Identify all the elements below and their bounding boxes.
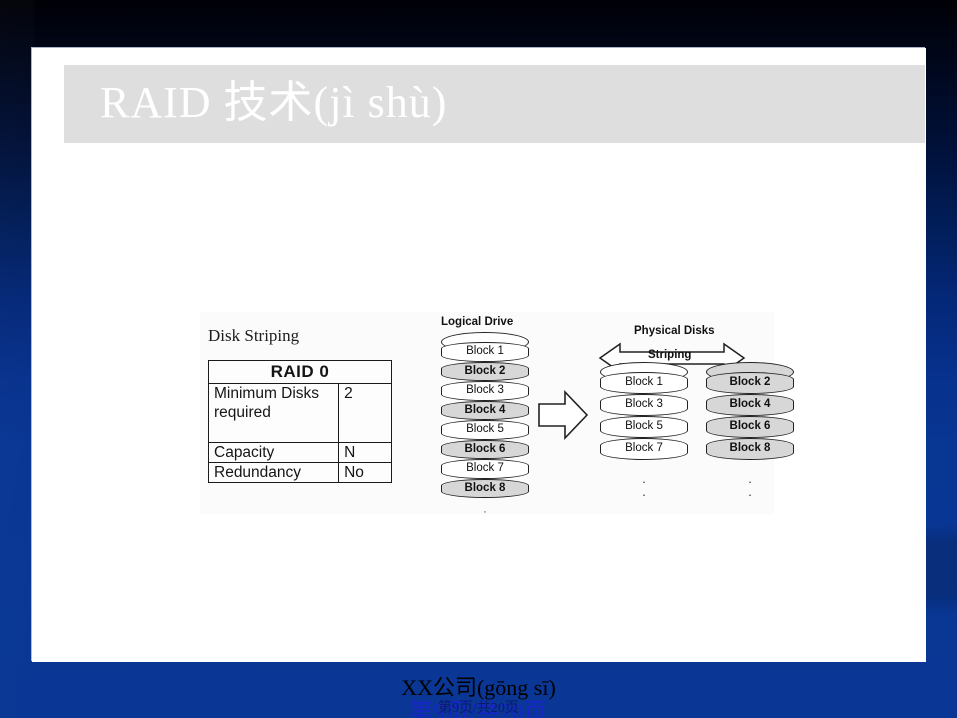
disk-block-label: Block 3 bbox=[442, 382, 528, 399]
raid0-spec-table: RAID 0 Minimum Disks required 2 Capacity… bbox=[208, 360, 392, 483]
disk-block-label: Block 6 bbox=[707, 417, 793, 436]
disk-block: Block 6 bbox=[706, 416, 794, 438]
slide-content-card: RAID 技术(jì shù) Disk Striping RAID 0 Min… bbox=[32, 48, 926, 662]
disk-block-label: Block 3 bbox=[601, 395, 687, 414]
physical-disk-left-continuation: ·· bbox=[600, 475, 688, 501]
row-label-capacity: Capacity bbox=[209, 443, 339, 463]
disk-block: Block 1 bbox=[600, 372, 688, 394]
diagram-caption: Disk Striping bbox=[208, 326, 299, 346]
disk-block: Block 7 bbox=[441, 459, 529, 479]
transition-arrow-icon bbox=[537, 388, 589, 442]
disk-block-label: Block 1 bbox=[601, 373, 687, 392]
disk-block: Block 4 bbox=[441, 401, 529, 421]
disk-block-label: Block 1 bbox=[442, 343, 528, 360]
physical-disks-title: Physical Disks bbox=[634, 325, 715, 337]
disk-block-label: Block 5 bbox=[601, 417, 687, 436]
disk-block-label: Block 8 bbox=[707, 439, 793, 458]
row-label-min-disks: Minimum Disks required bbox=[209, 384, 339, 443]
physical-disk-left: Block 1Block 3Block 5Block 7 bbox=[600, 362, 688, 472]
row-value-min-disks: 2 bbox=[339, 384, 392, 443]
row-value-redundancy: No bbox=[339, 463, 392, 483]
logical-drive-cylinder: Block 1Block 2Block 3Block 4Block 5Block… bbox=[441, 332, 529, 510]
disk-block-label: Block 4 bbox=[707, 395, 793, 414]
disk-block: Block 8 bbox=[441, 479, 529, 499]
disk-block-label: Block 5 bbox=[442, 421, 528, 438]
disk-block: Block 5 bbox=[441, 420, 529, 440]
physical-disk-right-continuation: ·· bbox=[706, 475, 794, 501]
disk-block-label: Block 7 bbox=[442, 460, 528, 477]
background-sheen-left bbox=[0, 0, 34, 718]
disk-block: Block 7 bbox=[600, 438, 688, 460]
row-label-redundancy: Redundancy bbox=[209, 463, 339, 483]
disk-block: Block 1 bbox=[441, 342, 529, 362]
disk-block: Block 6 bbox=[441, 440, 529, 460]
disk-block: Block 2 bbox=[441, 362, 529, 382]
disk-block: Block 8 bbox=[706, 438, 794, 460]
disk-block: Block 3 bbox=[441, 381, 529, 401]
disk-block-label: Block 4 bbox=[442, 402, 528, 419]
disk-block: Block 2 bbox=[706, 372, 794, 394]
striping-label: Striping bbox=[648, 349, 691, 361]
disk-block: Block 4 bbox=[706, 394, 794, 416]
page-counter-overlay: 第9页/共20页 bbox=[0, 697, 957, 717]
table-row: Minimum Disks required 2 bbox=[209, 384, 392, 443]
logical-drive-continuation: · bbox=[441, 506, 529, 519]
raid0-diagram: Disk Striping RAID 0 Minimum Disks requi… bbox=[200, 312, 774, 514]
physical-disk-right: Block 2Block 4Block 6Block 8 bbox=[706, 362, 794, 472]
slide-canvas: RAID 技术(jì shù) Disk Striping RAID 0 Min… bbox=[0, 0, 957, 718]
row-value-capacity: N bbox=[339, 443, 392, 463]
disk-block-label: Block 8 bbox=[442, 480, 528, 497]
logical-drive-title: Logical Drive bbox=[441, 316, 513, 328]
disk-block-label: Block 6 bbox=[442, 441, 528, 458]
table-row: Capacity N bbox=[209, 443, 392, 463]
disk-block-label: Block 7 bbox=[601, 439, 687, 458]
raid-level-header: RAID 0 bbox=[209, 361, 392, 384]
table-row: Redundancy No bbox=[209, 463, 392, 483]
disk-block-label: Block 2 bbox=[707, 373, 793, 392]
disk-block: Block 3 bbox=[600, 394, 688, 416]
page-title: RAID 技术(jì shù) bbox=[100, 75, 447, 131]
disk-block-label: Block 2 bbox=[442, 363, 528, 380]
table-header-row: RAID 0 bbox=[209, 361, 392, 384]
slide-title-band: RAID 技术(jì shù) bbox=[64, 65, 925, 143]
disk-block: Block 5 bbox=[600, 416, 688, 438]
